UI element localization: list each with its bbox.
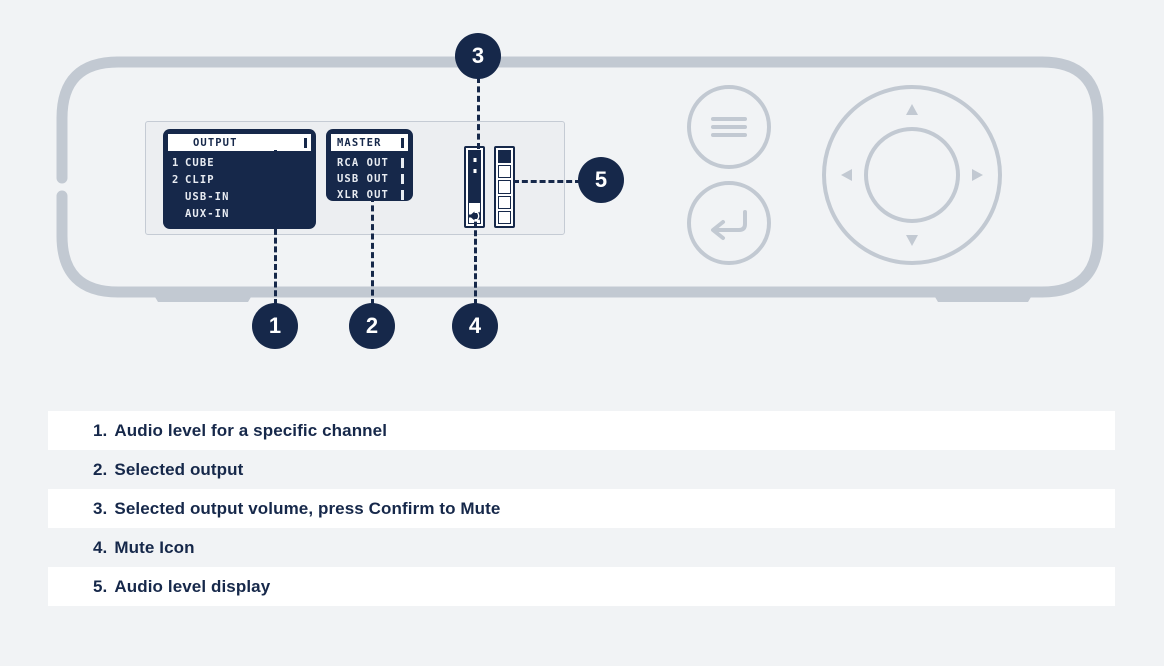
arrow-up-icon[interactable]	[906, 104, 918, 115]
output-row-1[interactable]: 1 CUBE	[168, 155, 311, 171]
arrow-left-icon[interactable]	[841, 169, 852, 181]
legend-item-number: 4.	[93, 538, 107, 558]
arrow-right-icon[interactable]	[972, 169, 983, 181]
legend-item-text: Selected output volume, press Confirm to…	[114, 499, 500, 519]
callout-badge-number: 1	[269, 313, 281, 339]
meter-segment	[498, 211, 511, 224]
slider-tick-icon	[473, 169, 476, 173]
menu-icon	[713, 119, 745, 135]
output-row-number: 1	[172, 157, 185, 169]
level-bar-icon	[401, 174, 404, 184]
master-row-usb-out[interactable]: USB OUT	[331, 171, 408, 187]
output-panel-header: OUTPUT	[168, 134, 311, 151]
legend-item-3: 3. Selected output volume, press Confirm…	[48, 489, 1115, 528]
output-row-label: AUX-IN	[185, 208, 311, 220]
arrow-down-icon[interactable]	[906, 235, 918, 246]
leader-line-3	[477, 77, 480, 149]
legend-item-5: 5. Audio level display	[48, 567, 1115, 606]
level-bar-icon	[401, 138, 404, 148]
output-row-label: CLIP	[185, 174, 311, 186]
enter-button[interactable]	[689, 183, 769, 263]
legend-list: 1. Audio level for a specific channel 2.…	[48, 411, 1115, 606]
master-row-label: XLR OUT	[337, 189, 401, 201]
output-row-number: 2	[172, 174, 185, 186]
legend-item-text: Mute Icon	[114, 538, 194, 558]
master-row-label: RCA OUT	[337, 157, 401, 169]
callout-badge-5: 5	[578, 157, 624, 203]
meter-segment	[498, 196, 511, 209]
chassis-foot-left	[152, 292, 254, 302]
meter-segment	[498, 150, 511, 163]
master-panel-header-label: MASTER	[337, 137, 401, 149]
callout-badge-2: 2	[349, 303, 395, 349]
master-row-rca-out[interactable]: RCA OUT	[331, 155, 408, 171]
leader-line-2	[371, 196, 374, 305]
legend-item-text: Selected output	[114, 460, 243, 480]
level-bar-icon	[401, 158, 404, 168]
legend-item-2: 2. Selected output	[48, 450, 1115, 489]
output-row-3[interactable]: USB-IN	[168, 189, 311, 205]
legend-item-number: 2.	[93, 460, 107, 480]
chassis-foot-right	[932, 292, 1034, 302]
volume-slider-track	[468, 150, 481, 206]
master-row-xlr-out[interactable]: XLR OUT	[331, 187, 408, 203]
callout-badge-1: 1	[252, 303, 298, 349]
meter-segment	[498, 165, 511, 178]
callout-badge-number: 4	[469, 313, 481, 339]
output-row-2[interactable]: 2 CLIP	[168, 172, 311, 188]
master-row-label: USB OUT	[337, 173, 401, 185]
level-bar-icon	[304, 138, 307, 148]
legend-item-number: 5.	[93, 577, 107, 597]
legend-item-number: 1.	[93, 421, 107, 441]
callout-badge-number: 2	[366, 313, 378, 339]
callout-badge-number: 3	[472, 43, 484, 69]
output-row-4[interactable]: AUX-IN	[168, 206, 311, 222]
enter-return-icon	[713, 212, 745, 238]
lcd-panel-master: MASTER RCA OUT USB OUT XLR OUT	[326, 129, 413, 201]
level-bar-icon	[401, 190, 404, 200]
leader-line-1	[274, 150, 277, 305]
callout-badge-4: 4	[452, 303, 498, 349]
callout-badge-3: 3	[455, 33, 501, 79]
master-panel-header: MASTER	[331, 134, 408, 151]
callout-badge-number: 5	[595, 167, 607, 193]
lcd-panel-output: OUTPUT 1 CUBE 2 CLIP USB-IN AUX-IN	[163, 129, 316, 229]
leader-line-5	[513, 180, 581, 183]
output-row-label: CUBE	[185, 157, 311, 169]
output-row-label: USB-IN	[185, 191, 311, 203]
audio-level-meter	[494, 146, 515, 228]
legend-item-4: 4. Mute Icon	[48, 528, 1115, 567]
leader-line-4	[474, 213, 477, 305]
display-bezel: OUTPUT 1 CUBE 2 CLIP USB-IN AUX-IN MASTE…	[145, 121, 565, 235]
legend-item-1: 1. Audio level for a specific channel	[48, 411, 1115, 450]
chassis-outline-left-segment	[62, 62, 118, 178]
dpad-center-button[interactable]	[866, 129, 958, 221]
meter-segment	[498, 180, 511, 193]
legend-item-number: 3.	[93, 499, 107, 519]
output-panel-header-label: OUTPUT	[193, 137, 304, 149]
slider-tick-icon	[473, 158, 476, 162]
legend-item-text: Audio level display	[114, 577, 270, 597]
device-illustration: OUTPUT 1 CUBE 2 CLIP USB-IN AUX-IN MASTE…	[0, 0, 1164, 380]
legend-item-text: Audio level for a specific channel	[114, 421, 387, 441]
